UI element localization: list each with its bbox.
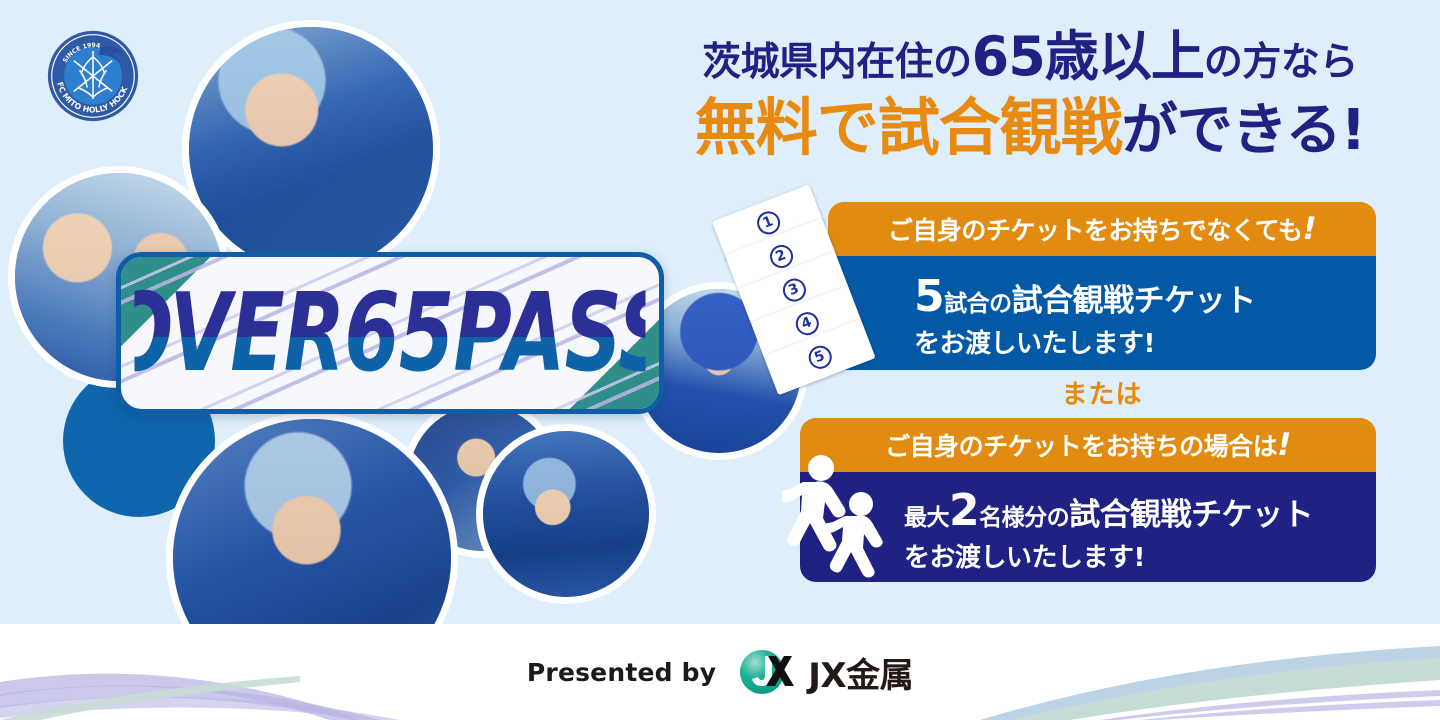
headline-suffix: の方なら	[1204, 40, 1358, 85]
or-separator-label: または	[828, 374, 1376, 411]
offer-body-line-2: をお渡しいたします!	[914, 328, 1376, 362]
offer-person-count: 2	[949, 485, 979, 536]
headline-line-2: 無料で試合観戦ができる!	[640, 92, 1420, 164]
headline-can-do: ができる	[1122, 98, 1341, 163]
ticket-number: 1	[753, 208, 783, 238]
offer-ticket-label: 試合観戦チケット	[1012, 283, 1256, 319]
jx-sponsor-name: JX金属	[808, 648, 913, 697]
footer: Presented by JX金属	[0, 624, 1440, 720]
headline-age: 65歳以上	[972, 25, 1204, 88]
offer-body-line-2: をお渡しいたします!	[904, 542, 1376, 576]
offer-header-text: ご自身のチケットをお持ちの場合は	[885, 432, 1277, 461]
offer-header-exclamation: !	[1277, 427, 1291, 463]
fc-mito-hollyhock-crest-icon: SINCE 1994 FC MITO HOLLY HOCK	[45, 28, 141, 124]
ticket-number: 4	[792, 309, 822, 339]
offer-body-line-1: 最大2名様分の試合観戦チケット	[904, 485, 1376, 538]
offer-header-text: ご自身のチケットをお持ちでなくても	[888, 216, 1303, 245]
ticket-number: 3	[779, 275, 809, 305]
jx-circle-mark-icon	[734, 642, 794, 702]
headline-free-watch: 無料で試合観戦	[695, 91, 1122, 164]
two-people-icon	[782, 452, 898, 580]
ticket-number: 2	[766, 241, 796, 271]
over65pass-wordmark: OVER65PASS	[134, 252, 645, 414]
jx-sponsor-logo: JX金属	[734, 642, 913, 702]
offer-match-unit: 試合の	[944, 291, 1012, 317]
over65pass-logo-plate: OVER65PASS	[116, 252, 664, 414]
offer-box-no-ticket-body: 5試合の試合観戦チケット をお渡しいたします!	[828, 256, 1376, 370]
offer-max-prefix: 最大	[904, 505, 949, 531]
offer-box-no-ticket-header: ご自身のチケットをお持ちでなくても!	[828, 202, 1376, 256]
presented-by-label: Presented by	[527, 658, 716, 687]
photo-seated-pair	[476, 424, 656, 604]
headline-line-1: 茨城県内在住の65歳以上の方なら	[640, 24, 1420, 90]
headline: 茨城県内在住の65歳以上の方なら 無料で試合観戦ができる!	[640, 24, 1420, 164]
offer-box-no-ticket: ご自身のチケットをお持ちでなくても! 5試合の試合観戦チケット をお渡しいたしま…	[828, 202, 1376, 370]
offer-body-line-1: 5試合の試合観戦チケット	[914, 271, 1376, 324]
offer-person-unit: 名様分の	[979, 505, 1069, 531]
offer-header-exclamation: !	[1302, 211, 1316, 247]
offer-ticket-label: 試合観戦チケット	[1069, 497, 1313, 533]
headline-exclamation: !	[1341, 98, 1366, 163]
headline-prefix: 茨城県内在住の	[702, 40, 972, 85]
over65pass-promo-banner: SINCE 1994 FC MITO HOLLY HOCK OVER65PASS…	[0, 0, 1440, 720]
offer-match-count: 5	[914, 271, 944, 322]
ticket-number: 5	[805, 342, 835, 372]
